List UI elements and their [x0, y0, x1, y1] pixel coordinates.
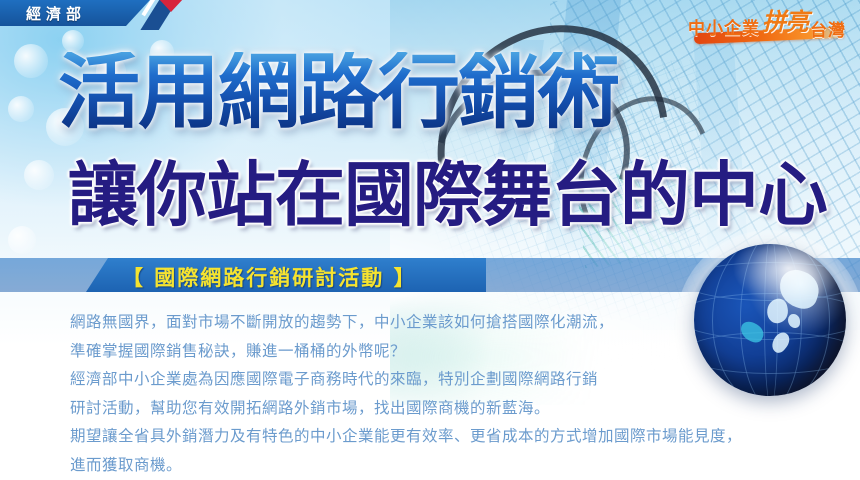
sme-slogan: 中小企業 拼亮 台灣	[688, 6, 846, 46]
sme-slogan-part3: 台灣	[810, 16, 846, 41]
body-line: 網路無國界，面對市場不斷開放的趨勢下，中小企業該如何搶搭國際化潮流，	[70, 308, 770, 337]
body-line: 期望讓全省具外銷潛力及有特色的中小企業能更有效率、更省成本的方式增加國際市場能見…	[70, 422, 770, 451]
body-line: 進而獲取商機。	[70, 451, 770, 480]
body-line: 研討活動，幫助您有效開拓網路外銷市場，找出國際商機的新藍海。	[70, 394, 770, 423]
bokeh-circle	[8, 226, 36, 254]
bokeh-circle	[14, 44, 48, 78]
body-copy: 網路無國界，面對市場不斷開放的趨勢下，中小企業該如何搶搭國際化潮流， 準確掌握國…	[70, 308, 770, 479]
sme-slogan-part1: 中小企業	[688, 14, 760, 39]
bokeh-circle	[8, 96, 34, 122]
headline-line2: 讓你站在國際舞台的中心	[68, 160, 827, 230]
poster-canvas: 經濟部 中小企業 拼亮 台灣 活用網路行銷術 活用網路行銷術 讓你站在國際舞台的…	[0, 0, 860, 480]
ministry-tab: 經濟部	[0, 0, 150, 26]
bokeh-circle	[24, 160, 54, 190]
body-line: 準確掌握國際銷售秘訣，賺進一桶桶的外幣呢？	[70, 337, 770, 366]
body-line: 經濟部中小企業處為因應國際電子商務時代的來臨，特別企劃國際網路行銷	[70, 365, 770, 394]
moea-swoosh-logo	[132, 0, 192, 30]
ministry-tab-label: 經濟部	[26, 3, 86, 24]
headline-line1: 活用網路行銷術	[58, 52, 618, 134]
subtitle-bar: 【 國際網路行銷研討活動 】	[86, 258, 486, 292]
sme-slogan-part2: 拼亮	[762, 2, 808, 37]
subtitle-bar-label: 【 國際網路行銷研討活動 】	[122, 262, 417, 292]
